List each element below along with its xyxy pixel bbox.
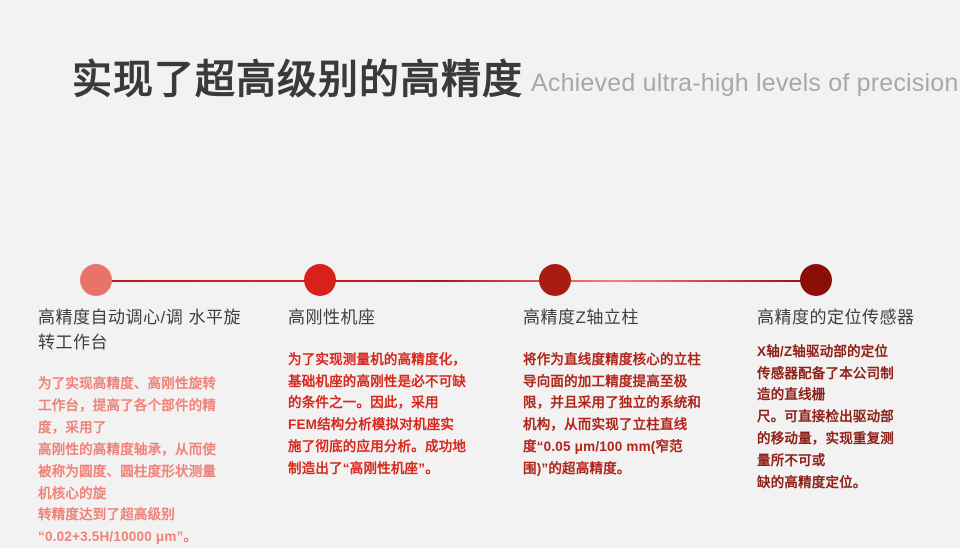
slide-root: 实现了超高级别的高精度 Achieved ultra-high levels o…	[0, 0, 960, 540]
feature-heading-1: 高精度自动调心/调 水平旋转工作台	[38, 306, 253, 355]
feature-column-3: 高精度Z轴立柱 将作为直线度精度核心的立柱 导向面的加工精度提高至极 限，并且采…	[523, 306, 738, 480]
timeline-dot-2[interactable]	[304, 264, 336, 296]
timeline-dot-3[interactable]	[539, 264, 571, 296]
feature-body-2: 为了实现测量机的高精度化， 基础机座的高刚性是必不可缺 的条件之一。因此，采用 …	[288, 349, 503, 480]
feature-column-4: 高精度的定位传感器 X轴/Z轴驱动部的定位 传感器配备了本公司制 造的直线栅 尺…	[757, 306, 957, 494]
feature-columns: 高精度自动调心/调 水平旋转工作台 为了实现高精度、高刚性旋转 工作台，提高了各…	[0, 306, 960, 540]
feature-heading-3: 高精度Z轴立柱	[523, 306, 738, 331]
feature-body-1: 为了实现高精度、高刚性旋转 工作台，提高了各个部件的精 度，采用了 高刚性的高精…	[38, 373, 253, 548]
page-header: 实现了超高级别的高精度 Achieved ultra-high levels o…	[72, 58, 958, 102]
page-title-en: Achieved ultra-high levels of precision	[531, 69, 958, 98]
feature-heading-4: 高精度的定位传感器	[757, 306, 957, 331]
feature-body-3: 将作为直线度精度核心的立柱 导向面的加工精度提高至极 限，并且采用了独立的系统和…	[523, 349, 738, 480]
feature-column-2: 高刚性机座 为了实现测量机的高精度化， 基础机座的高刚性是必不可缺 的条件之一。…	[288, 306, 503, 480]
page-title-cn: 实现了超高级别的高精度	[72, 58, 523, 102]
feature-body-4: X轴/Z轴驱动部的定位 传感器配备了本公司制 造的直线栅 尺。可直接检出驱动部 …	[757, 341, 957, 494]
feature-heading-2: 高刚性机座	[288, 306, 503, 331]
timeline	[0, 264, 960, 298]
timeline-dot-1[interactable]	[80, 264, 112, 296]
timeline-line	[96, 280, 816, 282]
timeline-dot-4[interactable]	[800, 264, 832, 296]
feature-column-1: 高精度自动调心/调 水平旋转工作台 为了实现高精度、高刚性旋转 工作台，提高了各…	[38, 306, 253, 548]
